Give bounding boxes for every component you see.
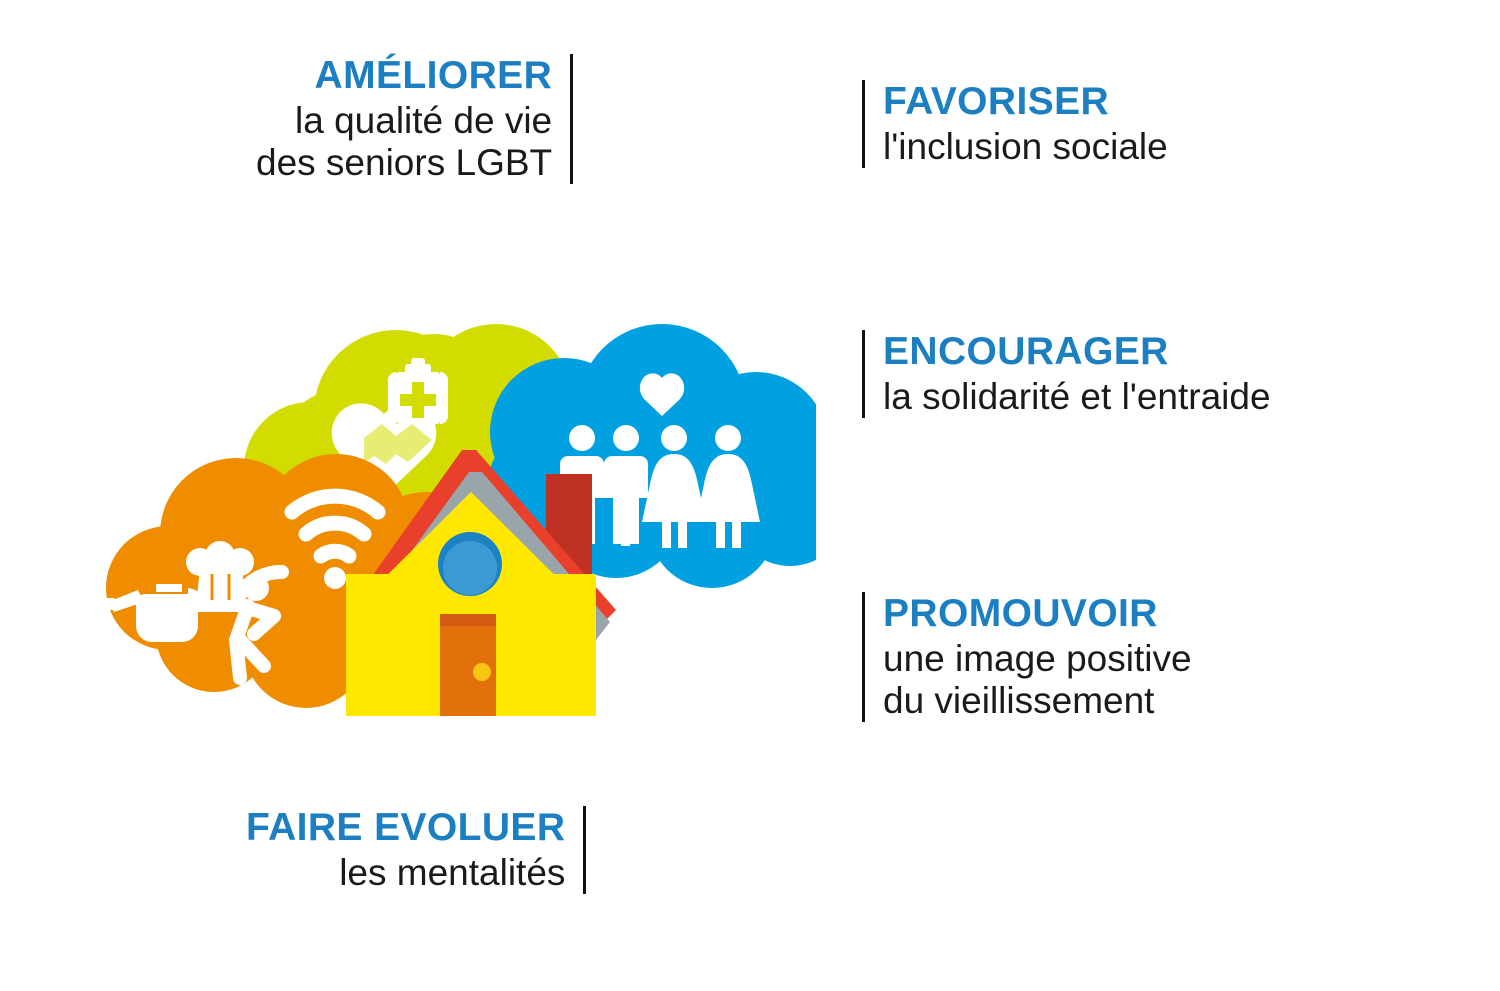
callout-ameliorer-text: AMÉLIORER la qualité de vie des seniors … [256, 54, 552, 184]
callout-ameliorer: AMÉLIORER la qualité de vie des seniors … [256, 54, 573, 184]
callout-faire-evoluer-rule [583, 806, 586, 894]
callout-promouvoir-subline: une image positive du vieillissement [883, 638, 1192, 722]
round-window [438, 532, 502, 596]
callout-favoriser: FAVORISER l'inclusion sociale [862, 80, 1168, 168]
callout-favoriser-subline: l'inclusion sociale [883, 126, 1168, 168]
house-illustration [96, 316, 816, 736]
callout-favoriser-text: FAVORISER l'inclusion sociale [883, 80, 1168, 168]
callout-favoriser-headline: FAVORISER [883, 80, 1168, 124]
callout-encourager: ENCOURAGER la solidarité et l'entraide [862, 330, 1271, 418]
callout-promouvoir-text: PROMOUVOIR une image positive du vieilli… [883, 592, 1192, 722]
callout-encourager-subline: la solidarité et l'entraide [883, 376, 1271, 418]
callout-promouvoir-rule [862, 592, 865, 722]
callout-faire-evoluer: FAIRE EVOLUER les mentalités [246, 806, 586, 894]
door-knob [473, 663, 491, 681]
callout-encourager-rule [862, 330, 865, 418]
callout-favoriser-rule [862, 80, 865, 168]
callout-faire-evoluer-headline: FAIRE EVOLUER [246, 806, 565, 850]
infographic-canvas: AMÉLIORER la qualité de vie des seniors … [0, 0, 1500, 991]
callout-faire-evoluer-text: FAIRE EVOLUER les mentalités [246, 806, 565, 894]
callout-faire-evoluer-subline: les mentalités [246, 852, 565, 894]
callout-promouvoir-headline: PROMOUVOIR [883, 592, 1192, 636]
callout-encourager-headline: ENCOURAGER [883, 330, 1271, 374]
front-door [440, 614, 496, 716]
callout-ameliorer-subline: la qualité de vie des seniors LGBT [256, 100, 552, 184]
callout-promouvoir: PROMOUVOIR une image positive du vieilli… [862, 592, 1192, 722]
callout-ameliorer-rule [570, 54, 573, 184]
callout-ameliorer-headline: AMÉLIORER [256, 54, 552, 98]
callout-encourager-text: ENCOURAGER la solidarité et l'entraide [883, 330, 1271, 418]
